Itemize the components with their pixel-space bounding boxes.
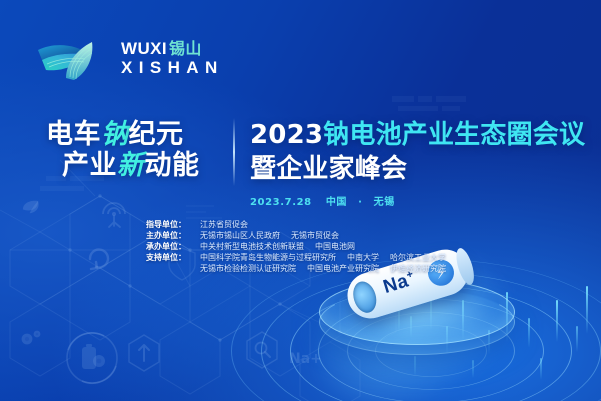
brand-xishan-en: XISHAN [121, 59, 224, 76]
slogan-2c: 动能 [145, 150, 200, 181]
title-line-1: 2023钠电池产业生态圈会议 [250, 120, 585, 151]
organizer-label: 承办单位： [146, 241, 194, 252]
gears-icon [22, 331, 41, 345]
upload-hex-icon [129, 335, 159, 371]
organizer-row: 指导单位： 江苏省贸促会 [146, 219, 457, 230]
slogan-2b: 新 [117, 150, 145, 181]
brand-xishan-cn: 锡山 [169, 41, 202, 57]
event-city: 无锡 [374, 197, 395, 208]
organizer-label: 支持单位： [146, 252, 194, 263]
event-slogan: 电车钠纪元 产业新动能 [46, 120, 224, 181]
organizer-values: 无锡市检验检测认证研究院中国电池产业研究院伊维经济研究院 [200, 263, 457, 274]
organizer-values: 中关村新型电池技术创新联盟中国电池网 [200, 241, 366, 252]
organizer-values: 中国科学院青岛生物能源与过程研究所中南大学哈尔滨工业大学 [200, 252, 457, 263]
event-date-location: 2023.7.28 中国 · 无锡 [250, 193, 585, 208]
organizers-block: 指导单位： 江苏省贸促会 主办单位： 无锡市锡山区人民政府无锡市贸促会 承办单位… [146, 219, 457, 274]
xishan-wave-logo-icon [36, 34, 112, 82]
date-separator: · [351, 197, 369, 208]
battery-cap-icon [350, 279, 380, 316]
brand-logo[interactable]: WUXI 锡山 XISHAN [36, 34, 224, 82]
leaf-icon [23, 201, 39, 214]
organizer-row: 承办单位： 中关村新型电池技术创新联盟中国电池网 [146, 241, 457, 252]
slogan-2a: 产业 [62, 150, 117, 181]
battery-gear-icon [67, 333, 117, 383]
organizer-label: 指导单位： [146, 219, 194, 230]
signal-touch-icon [103, 203, 125, 227]
title-year: 2023 [250, 120, 323, 150]
organizer-row: 主办单位： 无锡市锡山区人民政府无锡市贸促会 [146, 230, 457, 241]
slogan-1b: 钠 [101, 119, 129, 150]
slogan-1c: 纪元 [129, 119, 184, 150]
organizer-label: 主办单位： [146, 230, 194, 241]
vertical-divider [233, 118, 235, 186]
recycle-icon [90, 250, 108, 269]
slogan-line-1: 电车钠纪元 [46, 120, 224, 151]
organizer-values: 江苏省贸促会 [200, 219, 259, 230]
battery-podium-graphic: Na+ ⚡ [319, 263, 515, 359]
title-line-2: 暨企业家峰会 [250, 154, 585, 185]
brand-wordmark: WUXI 锡山 XISHAN [121, 40, 224, 76]
slogan-line-2: 产业新动能 [62, 151, 224, 182]
organizer-row: 承办单位： 无锡市检验检测认证研究院中国电池产业研究院伊维经济研究院 [146, 263, 457, 274]
conference-poster: Na+ [0, 0, 601, 401]
event-title-block: 2023钠电池产业生态圈会议 暨企业家峰会 2023.7.28 中国 · 无锡 [250, 120, 585, 208]
slogan-1a: 电车 [46, 119, 101, 150]
event-date: 2023.7.28 [250, 197, 312, 208]
event-country: 中国 [316, 197, 347, 208]
brand-wuxi: WUXI [121, 40, 167, 57]
organizer-values: 无锡市锡山区人民政府无锡市贸促会 [200, 230, 350, 241]
organizer-row: 支持单位： 中国科学院青岛生物能源与过程研究所中南大学哈尔滨工业大学 [146, 252, 457, 263]
title-main-cn: 钠电池产业生态圈会议 [323, 120, 585, 150]
